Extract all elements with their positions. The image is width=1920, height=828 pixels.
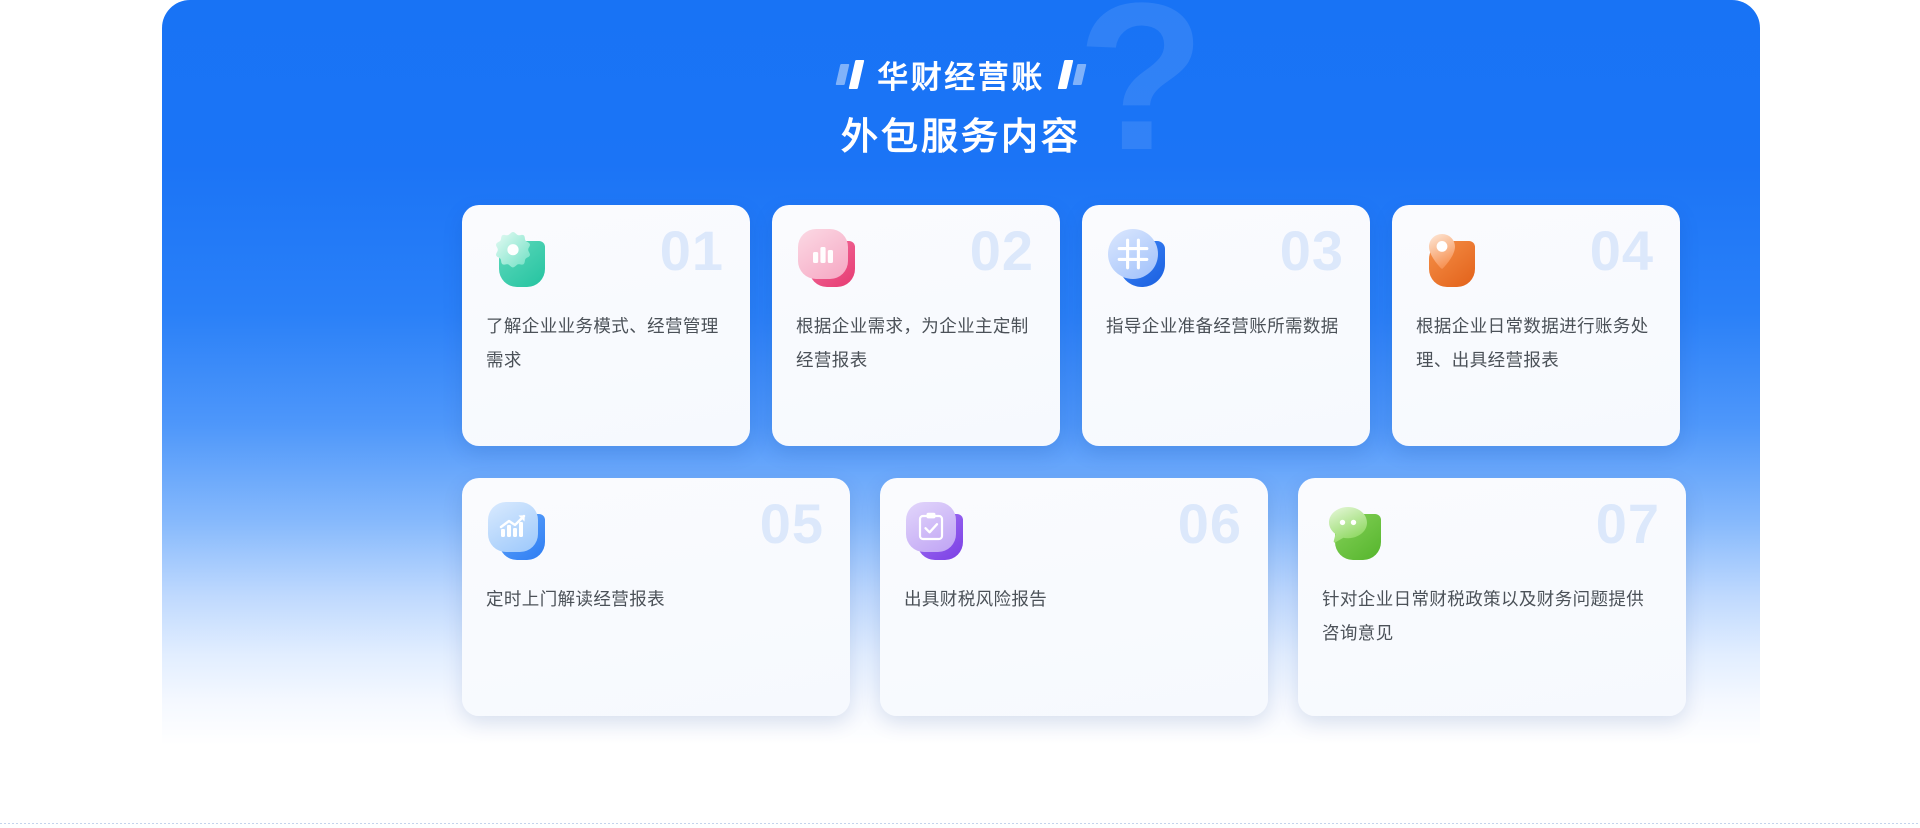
card-text: 指导企业准备经营账所需数据 — [1106, 309, 1346, 343]
card-number: 01 — [660, 223, 724, 279]
growth-chart-icon — [486, 500, 548, 562]
card-header: 03 — [1106, 227, 1346, 301]
page-root: ? 华财经营账 外包服务内容 — [0, 0, 1920, 828]
card-number: 04 — [1590, 223, 1654, 279]
page-subtitle: 外包服务内容 — [162, 106, 1760, 160]
page-title: 华财经营账 — [877, 52, 1045, 97]
card-header: 06 — [904, 500, 1244, 574]
card-text: 针对企业日常财税政策以及财务问题提供咨询意见 — [1322, 582, 1662, 650]
card-header: 04 — [1416, 227, 1656, 301]
card-number: 03 — [1280, 223, 1344, 279]
right-slash-decoration-icon — [1061, 59, 1084, 89]
service-card[interactable]: 07 针对企业日常财税政策以及财务问题提供咨询意见 — [1298, 478, 1686, 716]
title-row: 华财经营账 — [162, 52, 1760, 96]
panel-header: 华财经营账 外包服务内容 — [162, 52, 1760, 160]
chat-bubble-icon — [1322, 500, 1384, 562]
card-number: 02 — [970, 223, 1034, 279]
service-card[interactable]: 05 定时上门解读经营报表 — [462, 478, 850, 716]
card-header: 01 — [486, 227, 726, 301]
service-card[interactable]: 06 出具财税风险报告 — [880, 478, 1268, 716]
service-card[interactable]: 02 根据企业需求，为企业主定制经营报表 — [772, 205, 1060, 446]
card-header: 07 — [1322, 500, 1662, 574]
bar-chart-icon — [796, 227, 858, 289]
service-panel: ? 华财经营账 外包服务内容 — [162, 0, 1760, 745]
card-header: 02 — [796, 227, 1036, 301]
globe-icon — [1106, 227, 1168, 289]
card-text: 定时上门解读经营报表 — [486, 582, 826, 616]
card-text: 出具财税风险报告 — [904, 582, 1244, 616]
location-pin-icon — [1416, 227, 1478, 289]
left-slash-decoration-icon — [838, 59, 861, 89]
card-number: 06 — [1178, 496, 1242, 552]
card-text: 了解企业业务模式、经营管理需求 — [486, 309, 726, 377]
card-text: 根据企业需求，为企业主定制经营报表 — [796, 309, 1036, 377]
gear-icon — [486, 227, 548, 289]
card-row-top: 01 了解企业业务模式、经营管理需求 — [462, 205, 1680, 446]
card-number: 05 — [760, 496, 824, 552]
card-number: 07 — [1596, 496, 1660, 552]
service-card[interactable]: 04 根据企业日常数据进行账务处理、出具经营报表 — [1392, 205, 1680, 446]
card-header: 05 — [486, 500, 826, 574]
card-row-bottom: 05 定时上门解读经营报表 — [462, 478, 1686, 716]
service-card[interactable]: 03 指导企业准备经营账所需数据 — [1082, 205, 1370, 446]
page-bottom-divider — [0, 823, 1920, 824]
clipboard-check-icon — [904, 500, 966, 562]
service-card[interactable]: 01 了解企业业务模式、经营管理需求 — [462, 205, 750, 446]
card-text: 根据企业日常数据进行账务处理、出具经营报表 — [1416, 309, 1656, 377]
